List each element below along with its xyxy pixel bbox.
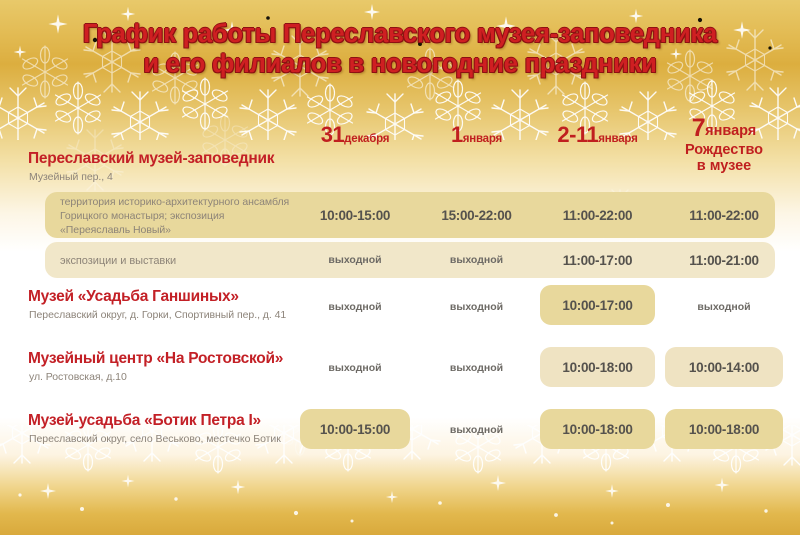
date-header-jan1-month: января bbox=[463, 133, 502, 145]
page-title: График работы Переславского музея-запове… bbox=[0, 20, 800, 79]
cell-na-rostovskoy-jan1: выходной bbox=[424, 353, 529, 383]
date-header-jan1: 1января bbox=[424, 122, 529, 148]
museum-name-pereslavsky: Переславский музей-заповедник bbox=[28, 150, 274, 168]
cell-na-rostovskoy-jan2-11: 10:00-18:00 bbox=[540, 347, 655, 387]
cell-expositions-dec31: выходной bbox=[300, 242, 410, 278]
date-header-jan2-11: 2-11января bbox=[540, 122, 655, 148]
cell-ganshinykh-jan7: выходной bbox=[665, 292, 783, 322]
date-header-jan7-month: января bbox=[705, 123, 756, 139]
cell-territory-jan2-11: 11:00-22:00 bbox=[540, 192, 655, 238]
cell-expositions-jan7: 11:00-21:00 bbox=[665, 242, 783, 278]
date-header-jan7-venue-label: в музее bbox=[665, 158, 783, 174]
cell-expositions-jan1: выходной bbox=[424, 242, 529, 278]
cell-botik-petra-jan1: выходной bbox=[424, 415, 529, 445]
cell-na-rostovskoy-dec31: выходной bbox=[300, 353, 410, 383]
date-header-dec31: 31декабря bbox=[300, 122, 410, 148]
cell-botik-petra-jan2-11: 10:00-18:00 bbox=[540, 409, 655, 449]
cell-territory-jan1: 15:00-22:00 bbox=[424, 192, 529, 238]
title-line-2: и его филиалов в новогодние праздники bbox=[0, 50, 800, 80]
cell-ganshinykh-jan2-11: 10:00-17:00 bbox=[540, 285, 655, 325]
museum-name-ganshinykh: Музей «Усадьба Ганшиных» bbox=[28, 288, 239, 306]
date-header-dec31-day: 31 bbox=[321, 122, 344, 147]
date-header-jan7-christmas-label: Рождество bbox=[665, 142, 783, 158]
schedule-band-territory-label: территория историко-архитектурного ансам… bbox=[60, 196, 290, 238]
museum-name-botik-petra: Музей-усадьба «Ботик Петра I» bbox=[28, 412, 261, 430]
date-header-jan2-11-day: 2-11 bbox=[557, 122, 598, 147]
date-header-jan7-day: 7 bbox=[692, 114, 705, 142]
museum-name-na-rostovskoy: Музейный центр «На Ростовской» bbox=[28, 350, 283, 368]
date-header-dec31-month: декабря bbox=[344, 133, 389, 145]
museum-address-na-rostovskoy: ул. Ростовская, д.10 bbox=[29, 371, 127, 383]
cell-territory-dec31: 10:00-15:00 bbox=[300, 192, 410, 238]
museum-address-ganshinykh: Переславский округ, д. Горки, Спортивный… bbox=[29, 309, 286, 321]
schedule-band-expositions-label: экспозиции и выставки bbox=[60, 254, 290, 269]
date-header-jan1-day: 1 bbox=[451, 122, 463, 147]
date-header-jan7-christmas: 7января Рождество в музее bbox=[665, 114, 783, 174]
cell-ganshinykh-jan1: выходной bbox=[424, 292, 529, 322]
date-column-headers: 31декабря 1января 2-11января 7января Рож… bbox=[0, 112, 800, 184]
museum-address-botik-petra: Переславский округ, село Веськово, месте… bbox=[29, 433, 281, 445]
cell-botik-petra-dec31: 10:00-15:00 bbox=[300, 409, 410, 449]
title-line-1: График работы Переславского музея-запове… bbox=[0, 20, 800, 50]
cell-expositions-jan2-11: 11:00-17:00 bbox=[540, 242, 655, 278]
museum-address-pereslavsky: Музейный пер., 4 bbox=[29, 171, 113, 183]
cell-territory-jan7: 11:00-22:00 bbox=[665, 192, 783, 238]
date-header-jan2-11-month: января bbox=[598, 133, 637, 145]
cell-ganshinykh-dec31: выходной bbox=[300, 292, 410, 322]
poster: График работы Переславского музея-запове… bbox=[0, 0, 800, 535]
cell-botik-petra-jan7: 10:00-18:00 bbox=[665, 409, 783, 449]
cell-na-rostovskoy-jan7: 10:00-14:00 bbox=[665, 347, 783, 387]
